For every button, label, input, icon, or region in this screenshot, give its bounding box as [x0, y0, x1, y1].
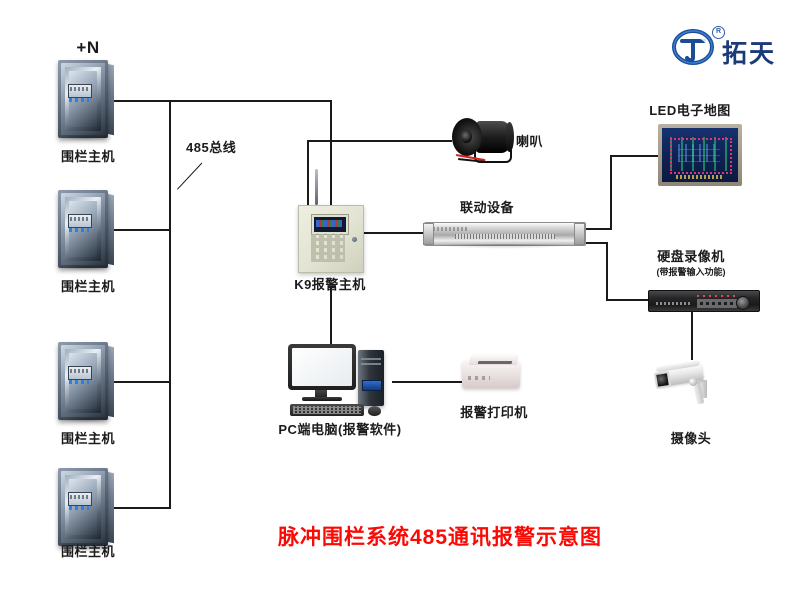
led-map-label: LED电子地图	[649, 100, 731, 119]
wire-linkage-to-branch-lower	[584, 242, 608, 244]
camera-label: 摄像头	[671, 428, 712, 447]
wire-dvr-to-camera	[691, 312, 693, 360]
horn-speaker[interactable]	[452, 114, 524, 166]
wire-fence4-to-bus	[110, 507, 171, 509]
mouse-icon	[368, 406, 381, 416]
brand-name: 拓天	[722, 34, 776, 70]
led-map-icon	[658, 124, 742, 186]
wire-bus-trunk	[169, 100, 171, 508]
speaker-label: 喇叭	[516, 131, 543, 150]
wire-alarm-host-to-linkage	[358, 232, 424, 234]
diagram-canvas: +N 围栏主机 围栏主机 围栏主机	[0, 0, 800, 600]
desktop-computer-icon	[288, 344, 356, 390]
alarm-printer[interactable]	[462, 352, 524, 392]
alarm-host-k9[interactable]	[298, 205, 362, 275]
cctv-camera[interactable]	[655, 360, 727, 412]
fence-host-1[interactable]	[54, 60, 118, 140]
fence-host-4-label: 围栏主机	[61, 541, 115, 560]
fence-host-2[interactable]	[54, 190, 118, 270]
fence-host-3-label: 围栏主机	[61, 428, 115, 447]
dvr-icon	[648, 290, 760, 312]
alarm-host-label: K9报警主机	[294, 274, 366, 293]
wire-alarm-host-to-pc	[330, 287, 332, 344]
wire-linkage-to-branch-upper	[584, 228, 612, 230]
dvr-label: 硬盘录像机	[657, 246, 725, 265]
dvr-sublabel: (带报警输入功能)	[657, 265, 726, 278]
desktop-computer[interactable]	[288, 344, 392, 422]
tuotian-logo-icon	[672, 28, 714, 66]
wire-branch-to-ledmap	[610, 155, 658, 157]
wire-alarm-host-to-speaker	[307, 140, 452, 142]
wire-fence2-to-bus	[110, 229, 171, 231]
pc-label: PC端电脑(报警软件)	[278, 419, 401, 438]
fence-host-2-label: 围栏主机	[61, 276, 115, 295]
linkage-device[interactable]	[424, 222, 584, 248]
bus-label-leader	[177, 163, 202, 190]
wire-bus-to-alarm-host	[330, 100, 332, 205]
brand-logo: R 拓天	[672, 26, 784, 70]
fence-host-1-label: 围栏主机	[61, 146, 115, 165]
wire-fence1-to-bus	[110, 100, 332, 102]
antenna-icon	[315, 169, 318, 205]
led-electronic-map[interactable]	[658, 124, 742, 186]
wire-branch-down-to-dvr	[606, 242, 608, 300]
wire-fence3-to-bus	[110, 381, 171, 383]
dvr-device[interactable]	[648, 290, 760, 312]
plus-n-label: +N	[76, 38, 99, 58]
linkage-label: 联动设备	[460, 197, 514, 216]
fence-host-4[interactable]	[54, 468, 118, 548]
rack-unit-icon	[424, 222, 586, 246]
bus-label: 485总线	[186, 137, 236, 156]
fence-host-3[interactable]	[54, 342, 118, 422]
diagram-title: 脉冲围栏系统485通讯报警示意图	[278, 521, 602, 551]
wire-branch-up-to-ledmap	[610, 155, 612, 229]
wire-alarm-host-to-speaker-riser	[307, 140, 309, 205]
wire-branch-to-dvr	[606, 299, 648, 301]
wire-pc-to-printer	[392, 381, 462, 383]
printer-label: 报警打印机	[460, 402, 528, 421]
